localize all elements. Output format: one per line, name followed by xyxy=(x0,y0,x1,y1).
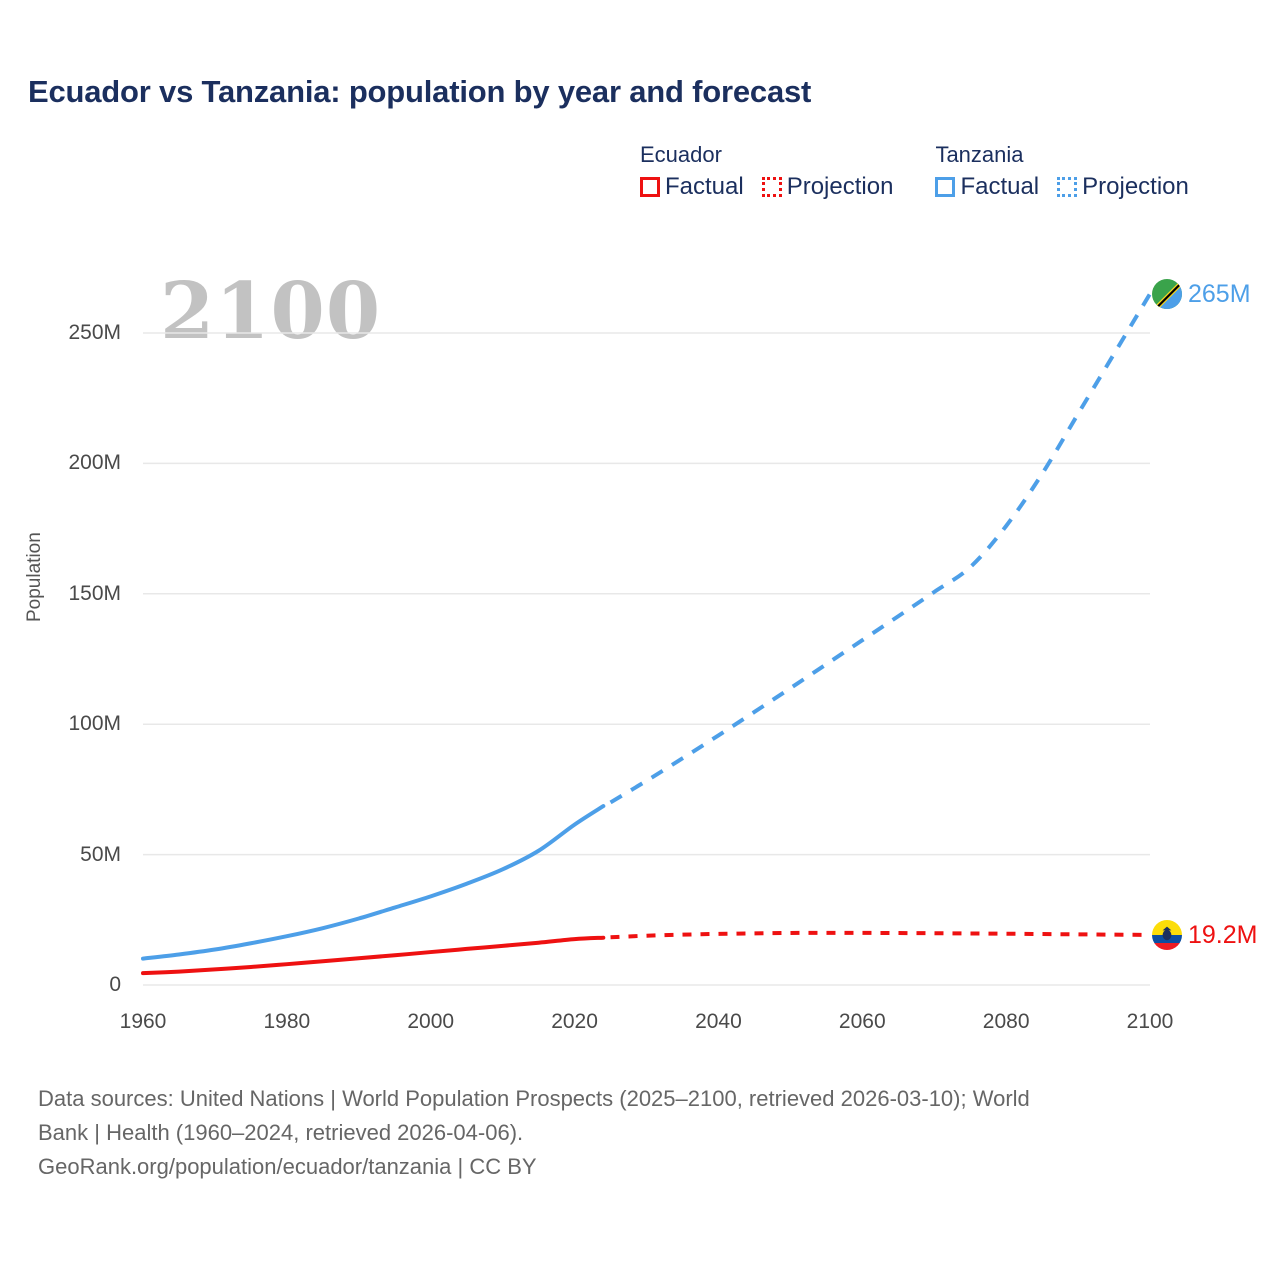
ecuador-flag-icon xyxy=(1152,920,1182,950)
x-axis-tick-label: 2080 xyxy=(983,1010,1030,1034)
y-axis-tick-label: 200M xyxy=(0,451,121,475)
chart-plot-area: 2100 Population 050M100M150M200M250M 196… xyxy=(0,0,1280,1060)
y-axis-tick-label: 150M xyxy=(0,582,121,606)
x-axis-tick-label: 2000 xyxy=(407,1010,454,1034)
chart-gridlines xyxy=(143,333,1150,985)
y-axis-title: Population xyxy=(24,532,46,622)
footer-line-3: GeoRank.org/population/ecuador/tanzania … xyxy=(38,1150,1238,1184)
footer-line-2: Bank | Health (1960–2024, retrieved 2026… xyxy=(38,1116,1238,1150)
x-axis-tick-label: 2060 xyxy=(839,1010,886,1034)
x-axis-tick-label: 1980 xyxy=(263,1010,310,1034)
y-axis-tick-label: 250M xyxy=(0,321,121,345)
series-line-factual-ecuador xyxy=(143,938,603,973)
x-axis-tick-label: 2100 xyxy=(1127,1010,1174,1034)
chart-canvas xyxy=(0,0,1280,1060)
end-marker-tanzania: 265M xyxy=(1152,279,1251,309)
x-axis-tick-label: 2040 xyxy=(695,1010,742,1034)
x-axis-tick-label: 1960 xyxy=(120,1010,167,1034)
y-axis-tick-label: 50M xyxy=(0,843,121,867)
tanzania-flag-icon xyxy=(1152,279,1182,309)
series-line-projection-tanzania xyxy=(611,294,1150,803)
series-line-factual-tanzania xyxy=(143,806,603,959)
end-marker-value-ecuador: 19.2M xyxy=(1188,922,1257,948)
footer-line-1: Data sources: United Nations | World Pop… xyxy=(38,1082,1238,1116)
end-marker-ecuador: 19.2M xyxy=(1152,920,1257,950)
y-axis-tick-label: 100M xyxy=(0,712,121,736)
y-axis-tick-label: 0 xyxy=(0,973,121,997)
footer-sources: Data sources: United Nations | World Pop… xyxy=(38,1082,1238,1184)
x-axis-tick-label: 2020 xyxy=(551,1010,598,1034)
chart-series-layer xyxy=(143,294,1150,973)
end-marker-value-tanzania: 265M xyxy=(1188,281,1251,307)
series-line-projection-ecuador xyxy=(611,933,1150,937)
